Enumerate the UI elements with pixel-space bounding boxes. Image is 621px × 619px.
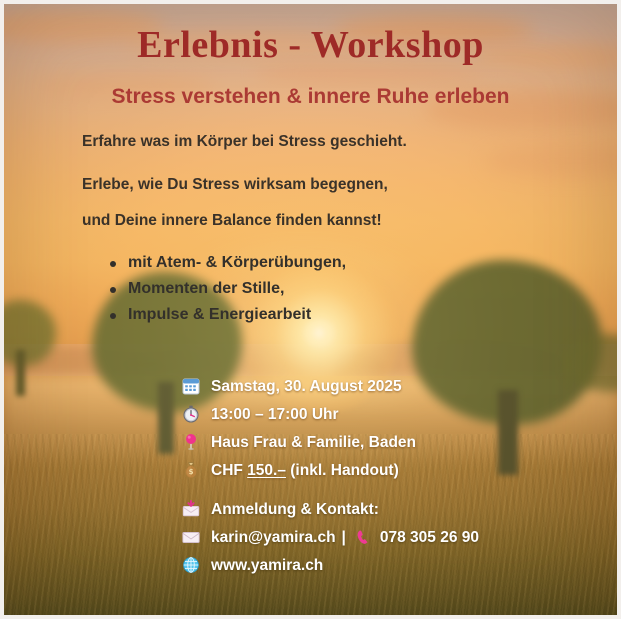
detail-row-date: Samstag, 30. August 2025 [182,375,416,399]
calendar-icon [182,377,204,397]
contact-heading-text: Anmeldung & Kontakt: [211,501,379,519]
detail-row-time: 13:00 – 17:00 Uhr [182,403,416,427]
price-prefix: CHF [211,462,247,479]
contact-website-row: www.yamira.ch [182,554,479,578]
page-subtitle: Stress verstehen & innere Ruhe erleben [4,85,617,109]
contact-email-phone-row: karin@yamira.ch | 078 305 26 90 [182,526,479,550]
detail-row-price: $ CHF 150.– (inkl. Handout) [182,459,416,483]
list-item: Momenten der Stille, [128,276,346,302]
contact-block: Anmeldung & Kontakt: karin@yamira.ch | 0… [182,498,479,582]
offering-bullet-list: mit Atem- & Körperübungen, Momenten der … [102,250,346,328]
contact-phone-text[interactable]: 078 305 26 90 [380,529,479,547]
price-amount: 150.– [247,462,286,479]
price-suffix: (inkl. Handout) [286,462,399,479]
stopwatch-icon [182,405,204,425]
contact-heading-row: Anmeldung & Kontakt: [182,498,479,522]
lead-line-3: und Deine innere Balance finden kannst! [82,212,382,230]
contact-email-text[interactable]: karin@yamira.ch [211,529,336,547]
detail-text-date: Samstag, 30. August 2025 [211,378,402,396]
telephone-receiver-icon [354,529,374,547]
envelope-icon [182,528,204,548]
detail-text-time: 13:00 – 17:00 Uhr [211,406,339,424]
location-pin-icon [182,433,204,453]
lead-line-2: Erlebe, wie Du Stress wirksam begegnen, [82,176,388,194]
globe-icon [182,556,204,576]
detail-text-price: CHF 150.– (inkl. Handout) [211,462,399,480]
svg-text:$: $ [189,468,194,476]
workshop-flyer: Erlebnis - Workshop Stress verstehen & i… [0,0,621,619]
list-item: Impulse & Energiearbeit [128,302,346,328]
lead-line-1: Erfahre was im Körper bei Stress geschie… [82,133,407,151]
event-details-block: Samstag, 30. August 2025 13:00 – 17:00 U… [182,375,416,487]
detail-text-location: Haus Frau & Familie, Baden [211,434,416,452]
detail-row-location: Haus Frau & Familie, Baden [182,431,416,455]
list-item: mit Atem- & Körperübungen, [128,250,346,276]
incoming-envelope-icon [182,500,204,520]
contact-website-text[interactable]: www.yamira.ch [211,557,323,575]
money-bag-icon: $ [182,461,204,481]
page-title: Erlebnis - Workshop [4,23,617,67]
contact-separator: | [336,529,352,547]
